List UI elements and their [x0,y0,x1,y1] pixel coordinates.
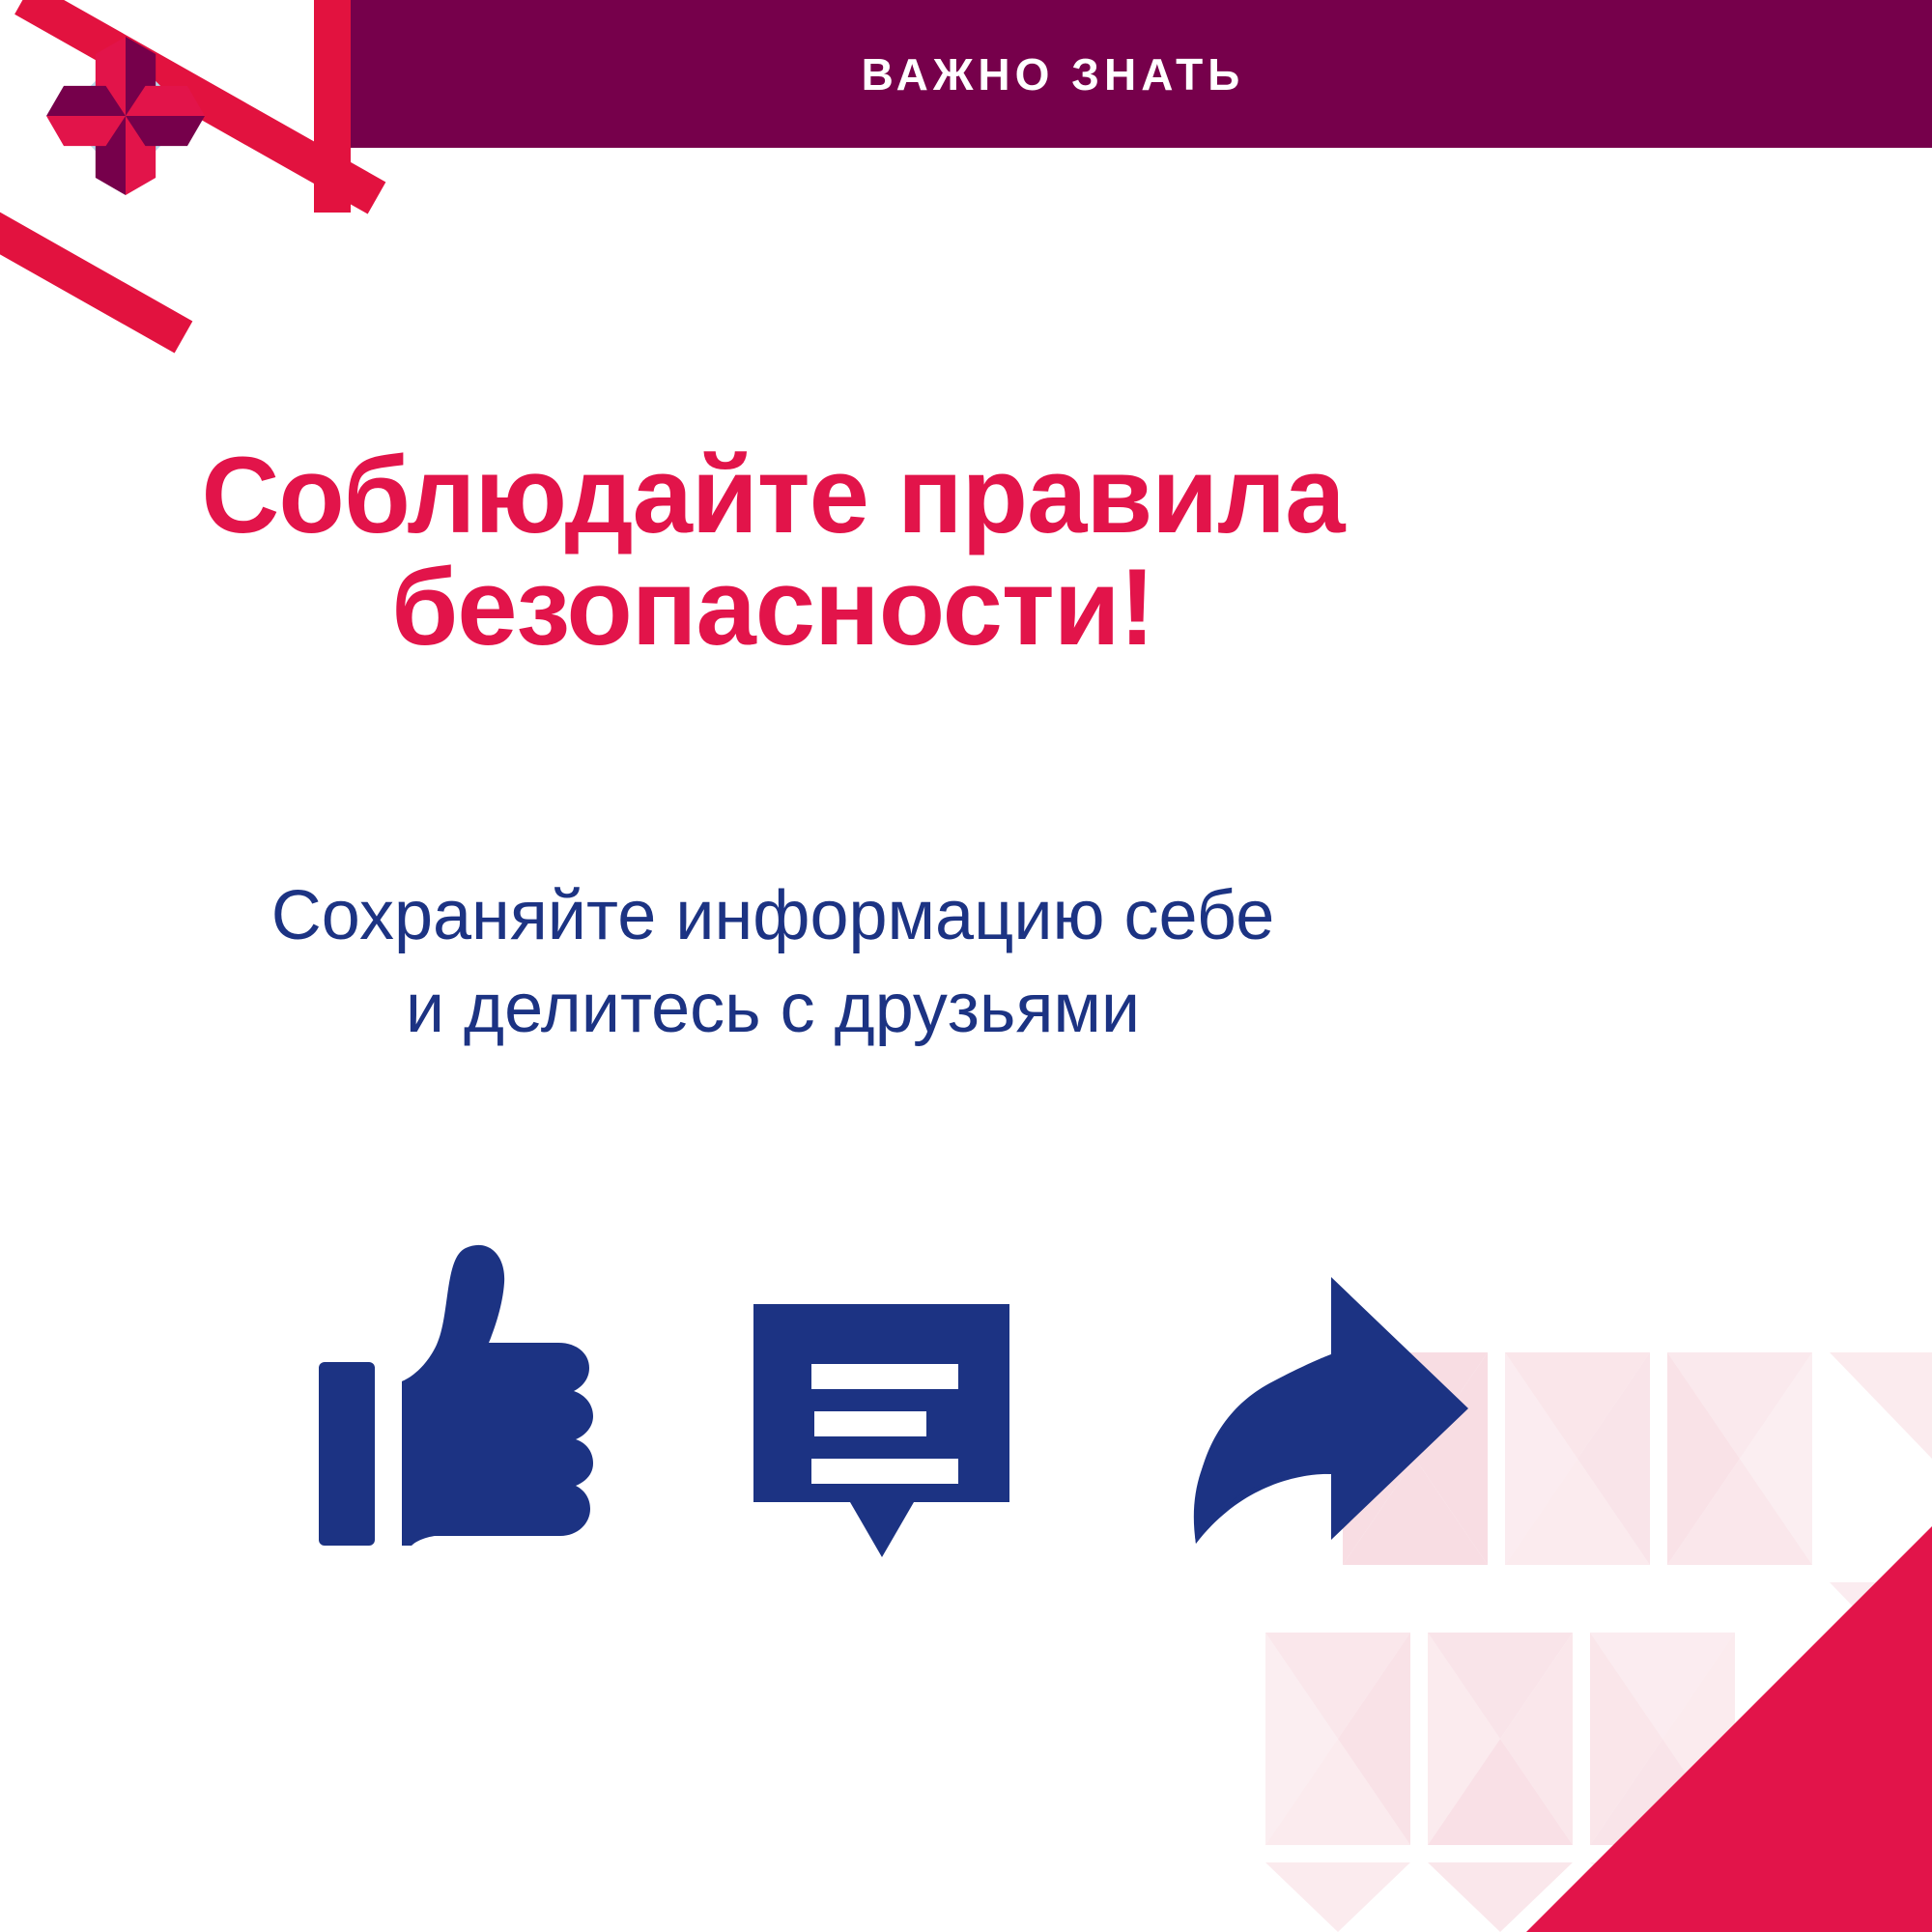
social-action-icon-row [319,1227,1575,1613]
thumbs-up-icon[interactable] [319,1236,638,1565]
share-arrow-icon[interactable] [1150,1265,1497,1594]
page-title: Соблюдайте правила безопасности! [0,440,1546,664]
poster-canvas: ВАЖНО ЗНАТЬ Соблюдайте правила безопасно… [0,0,1932,1932]
subtitle-line-2: и делитесь с друзьями [0,962,1546,1055]
header-banner-label: ВАЖНО ЗНАТЬ [862,48,1245,100]
eight-pointed-star-logo [46,37,205,195]
subtitle-line-1: Сохраняйте информацию себе [0,869,1546,962]
comment-bubble-icon[interactable] [744,1275,1063,1604]
title-line-2: безопасности! [0,552,1546,664]
red-ribbon-vertical-segment [314,0,351,213]
red-corner-triangle [1526,1526,1932,1932]
page-subtitle: Сохраняйте информацию себе и делитесь с … [0,869,1546,1055]
title-line-1: Соблюдайте правила [0,440,1546,552]
header-banner: ВАЖНО ЗНАТЬ [348,0,1932,148]
